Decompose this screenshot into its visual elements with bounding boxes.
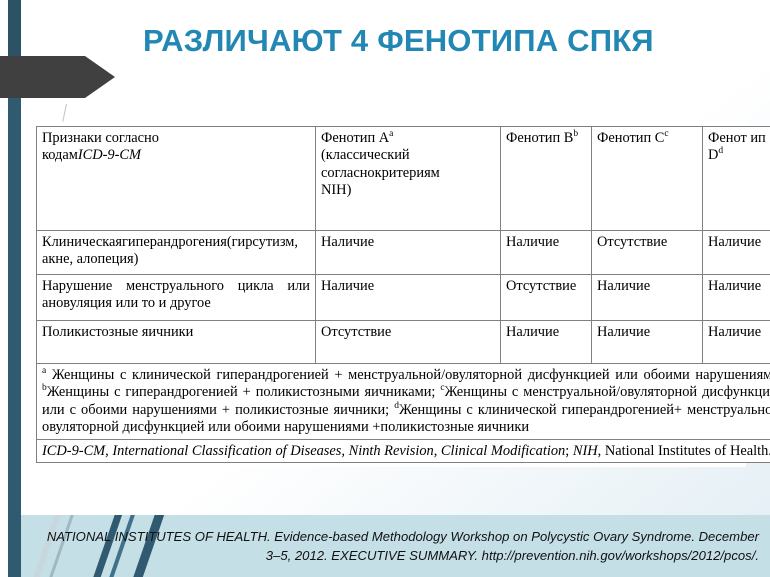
header-phenotype-c-superscript: c bbox=[664, 129, 668, 139]
header-features-line2: кодам bbox=[42, 147, 78, 163]
legend-abbr-icd: ICD-9-CM bbox=[42, 443, 105, 459]
legend-expansion-icd: , International Classification of Diseas… bbox=[105, 443, 565, 459]
header-phenotype-a-superscript: a bbox=[389, 129, 393, 139]
row-value-phenotype-b: Наличие bbox=[501, 231, 592, 275]
header-cell-phenotype-a: Фенотип Аa (классический согласнокритери… bbox=[316, 127, 501, 231]
phenotype-table-container: Признаки согласно кодамICD-9-CM Фенотип … bbox=[32, 122, 746, 467]
row-value-phenotype-a: Отсутствие bbox=[316, 321, 501, 364]
header-cell-phenotype-c: Фенотип Сc bbox=[592, 127, 703, 231]
arrow-banner-shape bbox=[0, 56, 115, 98]
row-value-phenotype-d: Наличие bbox=[703, 321, 770, 364]
row-feature-label: Поликистозные яичники bbox=[37, 321, 316, 364]
row-value-phenotype-c: Наличие bbox=[592, 275, 703, 321]
header-phenotype-d-superscript: d bbox=[718, 147, 723, 157]
page-title: РАЗЛИЧАЮТ 4 ФЕНОТИПА СПКЯ bbox=[143, 22, 743, 60]
source-citation-line1: NATIONAL INSTITUTES OF HEALTH. Evidence-… bbox=[33, 527, 759, 546]
row-value-phenotype-c: Наличие bbox=[592, 321, 703, 364]
source-citation-line2: 3–5, 2012. EXECUTIVE SUMMARY. http://pre… bbox=[33, 546, 759, 565]
decorative-tick-line bbox=[62, 104, 67, 122]
header-cell-phenotype-b: Фенотип Вb bbox=[501, 127, 592, 231]
table-row: Поликистозные яичники Отсутствие Наличие… bbox=[37, 321, 770, 364]
left-accent-bar-middle bbox=[8, 96, 21, 515]
header-cell-features: Признаки согласно кодамICD-9-CM bbox=[37, 127, 316, 231]
header-phenotype-a-line3: согласнокритериям bbox=[321, 165, 440, 181]
table-row: Клиническаягиперандрогения(гирсутизм, ак… bbox=[37, 231, 770, 275]
legend-abbr-nih: NIH bbox=[573, 443, 598, 459]
header-features-line1: Признаки согласно bbox=[42, 130, 159, 146]
left-accent-bar-bottom bbox=[8, 515, 21, 577]
legend-separator: ; bbox=[565, 443, 573, 459]
source-citation: NATIONAL INSTITUTES OF HEALTH. Evidence-… bbox=[33, 527, 759, 565]
header-phenotype-d-label: Фенот ип D bbox=[708, 130, 766, 163]
table-row: Нарушение менструального цикла или анову… bbox=[37, 275, 770, 321]
header-phenotype-a-label: Фенотип А bbox=[321, 130, 389, 146]
table-footnote: a Женщины с клинической гиперандрогенией… bbox=[37, 364, 770, 440]
row-feature-label: Клиническаягиперандрогения(гирсутизм, ак… bbox=[37, 231, 316, 275]
left-accent-bar-top bbox=[8, 0, 21, 60]
header-phenotype-c-label: Фенотип С bbox=[597, 130, 664, 146]
table-legend: ICD-9-CM, International Classification o… bbox=[37, 439, 770, 462]
table-footnote-row: a Женщины с клинической гиперандрогенией… bbox=[37, 364, 770, 440]
header-phenotype-a-line2: (классический bbox=[321, 147, 410, 163]
source-caption-band: NATIONAL INSTITUTES OF HEALTH. Evidence-… bbox=[21, 515, 770, 577]
table-legend-row: ICD-9-CM, International Classification o… bbox=[37, 439, 770, 462]
header-phenotype-a-line4: NIH) bbox=[321, 182, 351, 198]
row-value-phenotype-d: Наличие bbox=[703, 275, 770, 321]
slide-canvas: РАЗЛИЧАЮТ 4 ФЕНОТИПА СПКЯ Признаки согла… bbox=[0, 0, 770, 577]
legend-expansion-nih: , National Institutes of Health. bbox=[598, 443, 770, 459]
row-value-phenotype-c: Отсутствие bbox=[592, 231, 703, 275]
row-value-phenotype-a: Наличие bbox=[316, 275, 501, 321]
header-phenotype-b-label: Фенотип В bbox=[506, 130, 573, 146]
row-feature-label: Нарушение менструального цикла или анову… bbox=[37, 275, 316, 321]
row-value-phenotype-a: Наличие bbox=[316, 231, 501, 275]
header-features-code: ICD-9-CM bbox=[78, 147, 141, 163]
header-phenotype-b-superscript: b bbox=[573, 129, 578, 139]
footnote-text-a: Женщины с клинической гиперандрогенией +… bbox=[46, 367, 770, 383]
footnote-text-b: Женщины с гиперандрогенией + поликистозн… bbox=[47, 384, 441, 400]
table-header-row: Признаки согласно кодамICD-9-CM Фенотип … bbox=[37, 127, 770, 231]
row-value-phenotype-b: Отсутствие bbox=[501, 275, 592, 321]
row-value-phenotype-b: Наличие bbox=[501, 321, 592, 364]
phenotype-table: Признаки согласно кодамICD-9-CM Фенотип … bbox=[36, 126, 770, 463]
header-cell-phenotype-d: Фенот ип Dd bbox=[703, 127, 770, 231]
row-value-phenotype-d: Наличие bbox=[703, 231, 770, 275]
